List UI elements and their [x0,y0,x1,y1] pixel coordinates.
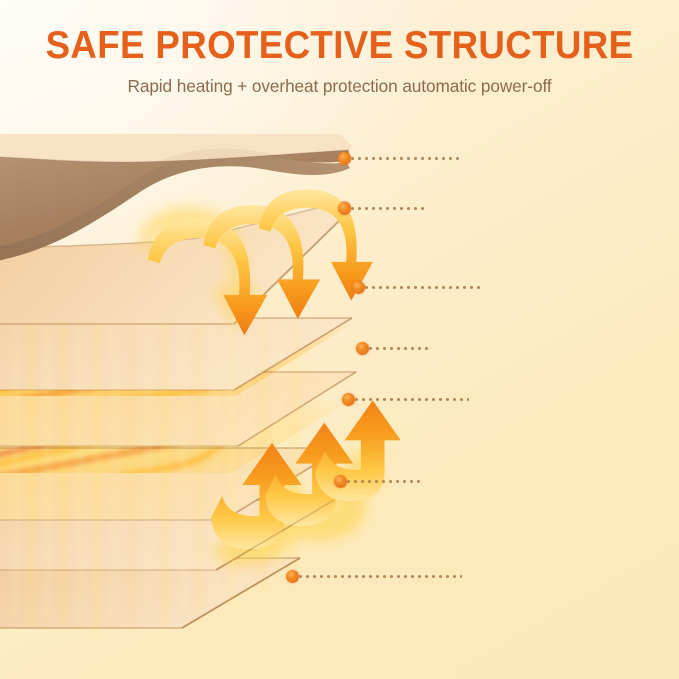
leader-line [367,347,429,350]
leader-line [353,398,469,401]
leader-line [349,207,427,210]
leader-line [349,157,463,160]
callout-layer: Cozy Velvet Cover Waterproof Thickened P… [0,0,679,679]
leader-line [345,480,423,483]
leader-line [363,286,483,289]
infographic-canvas: SAFE PROTECTIVE STRUCTURE Rapid heating … [0,0,679,679]
leader-line [297,575,462,578]
